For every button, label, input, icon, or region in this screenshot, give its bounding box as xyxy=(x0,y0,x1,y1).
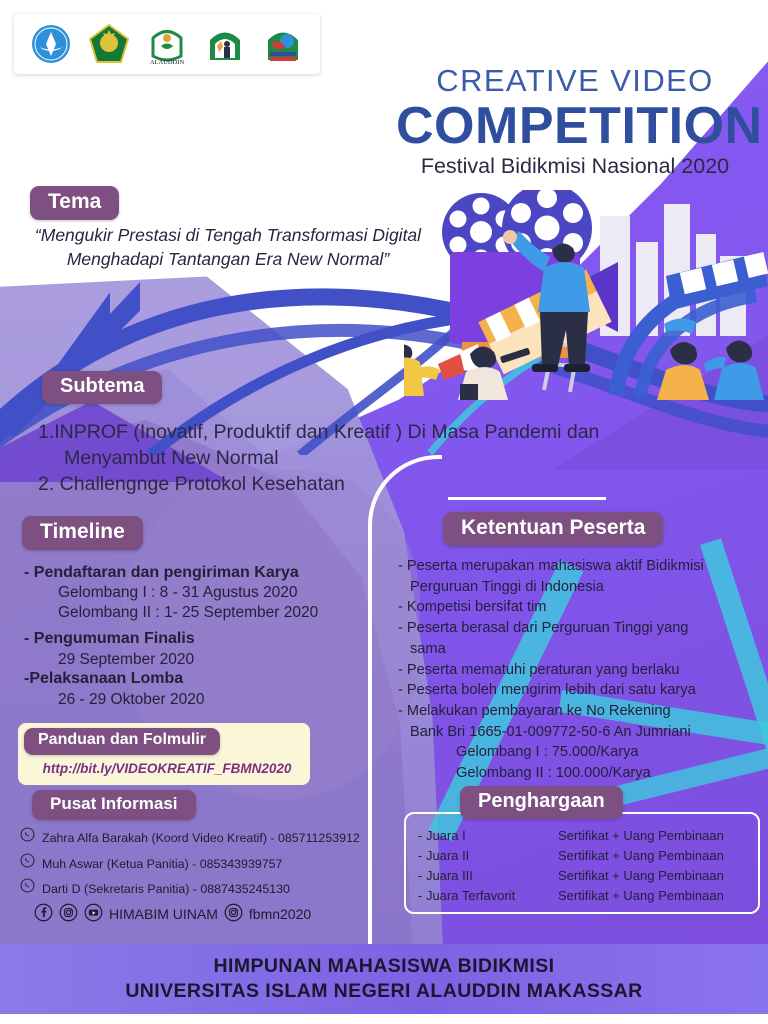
contact-text: Muh Aswar (Ketua Panitia) - 085343939757 xyxy=(42,852,282,878)
youtube-icon[interactable] xyxy=(84,903,103,925)
kementerian-agama-logo xyxy=(86,21,132,67)
instagram-icon[interactable] xyxy=(59,903,78,925)
title-line-competition: COMPETITION xyxy=(396,100,754,153)
ketentuan-item: - Peserta berasal dari Perguruan Tinggi … xyxy=(398,618,764,639)
timeline-list: - Pendaftaran dan pengiriman Karya Gelom… xyxy=(24,563,374,710)
panduan-badge: Panduan dan Folmulir xyxy=(24,728,220,755)
ketentuan-item: - Melakukan pembayaran ke No Rekening xyxy=(398,701,764,722)
penghargaan-place: - Juara I xyxy=(418,826,558,846)
timeline-badge: Timeline xyxy=(22,516,143,550)
festival-bidikmisi-nasional-logo xyxy=(260,21,306,67)
uin-alauddin-makassar-logo: ALAUDDIN xyxy=(144,21,190,67)
logo-strip: ALAUDDIN xyxy=(14,14,320,74)
tema-line-2: Menghadapi Tantangan Era New Normal” xyxy=(18,248,438,272)
ketentuan-item: - Peserta boleh mengirim lebih dari satu… xyxy=(398,680,764,701)
penghargaan-row: - Juara Terfavorit Sertifikat + Uang Pem… xyxy=(418,886,754,906)
subtema-item: 2. Challengnge Protokol Kesehatan xyxy=(38,472,718,498)
timeline-row: 26 - 29 Oktober 2020 xyxy=(24,690,374,710)
aymabi-logo xyxy=(202,21,248,67)
whatsapp-icon xyxy=(20,826,35,852)
tut-wuri-handayani-logo xyxy=(28,21,74,67)
penghargaan-row: - Juara I Sertifikat + Uang Pembinaan xyxy=(418,826,754,846)
instagram-icon[interactable] xyxy=(224,903,243,925)
tema-line-1: “Mengukir Prestasi di Tengah Transformas… xyxy=(18,224,438,248)
ketentuan-item: - Peserta mematuhi peraturan yang berlak… xyxy=(398,660,764,681)
title-line-festival: Festival Bidikmisi Nasional 2020 xyxy=(396,154,754,180)
footer-white-strip xyxy=(0,1014,768,1024)
ketentuan-item: - Kompetisi bersifat tim xyxy=(398,597,764,618)
subtema-item: Menyambut New Normal xyxy=(38,446,718,472)
facebook-icon[interactable] xyxy=(34,903,53,925)
ketentuan-item: Bank Bri 1665-01-009772-50-6 An Jumriani xyxy=(398,722,764,743)
footer-banner: HIMPUNAN MAHASISWA BIDIKMISI UNIVERSITAS… xyxy=(0,944,768,1014)
video-production-illustration xyxy=(404,190,768,400)
whatsapp-icon xyxy=(20,877,35,903)
pusat-informasi-contacts: Zahra Alfa Barakah (Koord Video Kreatif)… xyxy=(20,826,420,903)
penghargaan-badge: Penghargaan xyxy=(460,786,623,819)
subtema-item: 1.INPROF (Inovatif, Produktif dan Kreati… xyxy=(38,420,718,446)
svg-text:ALAUDDIN: ALAUDDIN xyxy=(150,59,185,66)
timeline-row: Gelombang II : 1- 25 September 2020 xyxy=(24,603,374,623)
ketentuan-item: - Peserta merupakan mahasiswa aktif Bidi… xyxy=(398,556,764,577)
social-handle-second: fbmn2020 xyxy=(249,906,311,922)
page-title: CREATIVE VIDEO COMPETITION Festival Bidi… xyxy=(396,64,754,180)
ketentuan-item: Gelombang II : 100.000/Karya xyxy=(398,763,764,784)
penghargaan-prize: Sertifikat + Uang Pembinaan xyxy=(558,826,724,846)
timeline-row: 29 September 2020 xyxy=(24,650,374,670)
panduan-link[interactable]: http://bit.ly/VIDEOKREATIF_FBMN2020 xyxy=(28,761,306,776)
pusat-informasi-badge: Pusat Informasi xyxy=(32,790,196,820)
penghargaan-prize: Sertifikat + Uang Pembinaan xyxy=(558,886,724,906)
tema-badge: Tema xyxy=(30,186,119,220)
penghargaan-prize: Sertifikat + Uang Pembinaan xyxy=(558,846,724,866)
footer-line-1: HIMPUNAN MAHASISWA BIDIKMISI xyxy=(214,954,555,979)
social-media-row: HIMABIM UINAM fbmn2020 xyxy=(34,903,311,925)
whatsapp-icon xyxy=(20,852,35,878)
ketentuan-item: Gelombang I : 75.000/Karya xyxy=(398,742,764,763)
contact-row: Muh Aswar (Ketua Panitia) - 085343939757 xyxy=(20,852,420,878)
contact-text: Zahra Alfa Barakah (Koord Video Kreatif)… xyxy=(42,826,360,852)
penghargaan-row: - Juara II Sertifikat + Uang Pembinaan xyxy=(418,846,754,866)
poster-canvas: ALAUDDIN CREATIVE VIDEO COMPETIT xyxy=(0,0,768,1024)
ketentuan-peserta-badge: Ketentuan Peserta xyxy=(443,512,663,546)
timeline-row: Gelombang I : 8 - 31 Agustus 2020 xyxy=(24,583,374,603)
ketentuan-item: sama xyxy=(398,639,764,660)
penghargaan-place: - Juara II xyxy=(418,846,558,866)
timeline-row: - Pengumuman Finalis xyxy=(24,629,374,649)
ketentuan-peserta-list: - Peserta merupakan mahasiswa aktif Bidi… xyxy=(398,556,764,784)
penghargaan-table: - Juara I Sertifikat + Uang Pembinaan - … xyxy=(418,826,754,906)
penghargaan-row: - Juara III Sertifikat + Uang Pembinaan xyxy=(418,866,754,886)
footer-line-2: UNIVERSITAS ISLAM NEGERI ALAUDDIN MAKASS… xyxy=(125,979,642,1004)
penghargaan-place: - Juara Terfavorit xyxy=(418,886,558,906)
tema-text: “Mengukir Prestasi di Tengah Transformas… xyxy=(18,224,438,271)
contact-row: Darti D (Sekretaris Panitia) - 088743524… xyxy=(20,877,420,903)
social-handle-main: HIMABIM UINAM xyxy=(109,906,218,922)
contact-row: Zahra Alfa Barakah (Koord Video Kreatif)… xyxy=(20,826,420,852)
penghargaan-prize: Sertifikat + Uang Pembinaan xyxy=(558,866,724,886)
timeline-row: -Pelaksanaan Lomba xyxy=(24,669,374,689)
timeline-row: - Pendaftaran dan pengiriman Karya xyxy=(24,563,374,583)
title-line-creative-video: CREATIVE VIDEO xyxy=(396,64,754,98)
subtema-badge: Subtema xyxy=(42,371,162,404)
contact-text: Darti D (Sekretaris Panitia) - 088743524… xyxy=(42,877,290,903)
subtema-list: 1.INPROF (Inovatif, Produktif dan Kreati… xyxy=(38,420,718,498)
penghargaan-place: - Juara III xyxy=(418,866,558,886)
ketentuan-item: Perguruan Tinggi di Indonesia xyxy=(398,577,764,598)
